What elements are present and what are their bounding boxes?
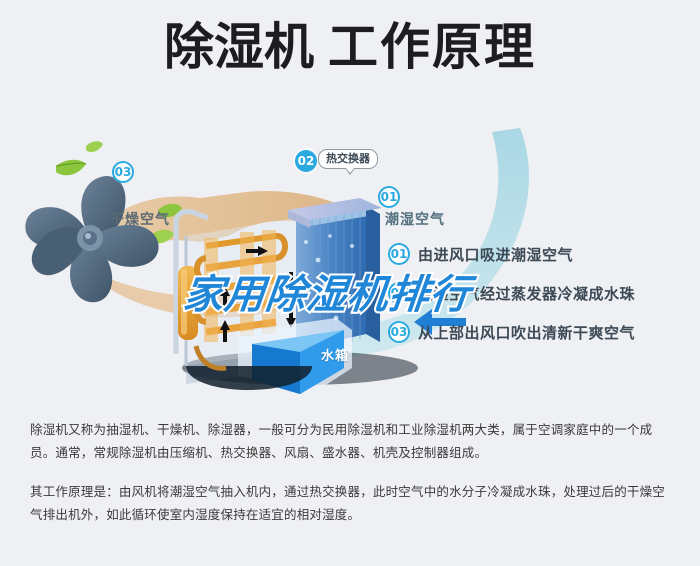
fan-blades <box>25 176 158 302</box>
step-text-03: 从上部出风口吹出清新干爽空气 <box>418 322 635 343</box>
badge-03: 03 <box>112 161 134 183</box>
watermark-text: 家用除湿机排行 <box>181 262 474 320</box>
step-badge-03: 03 <box>388 321 410 343</box>
paragraph-2: 其工作原理是：由风机将潮湿空气抽入机内，通过热交换器，此时空气中的水分子冷凝成水… <box>30 480 676 526</box>
page-title: 除湿机工作原理 <box>0 22 700 72</box>
paragraph-1: 除湿机又称为抽湿机、干燥机、除湿器，一般可分为民用除湿机和工业除湿机两大类，属于… <box>30 418 676 464</box>
badge-02: 02 <box>295 150 317 172</box>
title-part-2: 工作原理 <box>328 18 536 76</box>
page-root: 除湿机工作原理 <box>0 0 700 566</box>
label-humid-air: 潮湿空气 <box>385 209 445 229</box>
label-water-tank: 水箱 <box>321 345 349 364</box>
body-copy: 除湿机又称为抽湿机、干燥机、除湿器，一般可分为民用除湿机和工业除湿机两大类，属于… <box>30 418 676 542</box>
list-item: 03 从上部出风口吹出清新干爽空气 <box>388 321 688 343</box>
label-dry-air: 干燥空气 <box>110 209 170 229</box>
tooltip-heat-exchanger: 热交换器 <box>318 149 378 169</box>
badge-01: 01 <box>378 186 400 208</box>
title-part-1: 除湿机 <box>164 18 314 76</box>
